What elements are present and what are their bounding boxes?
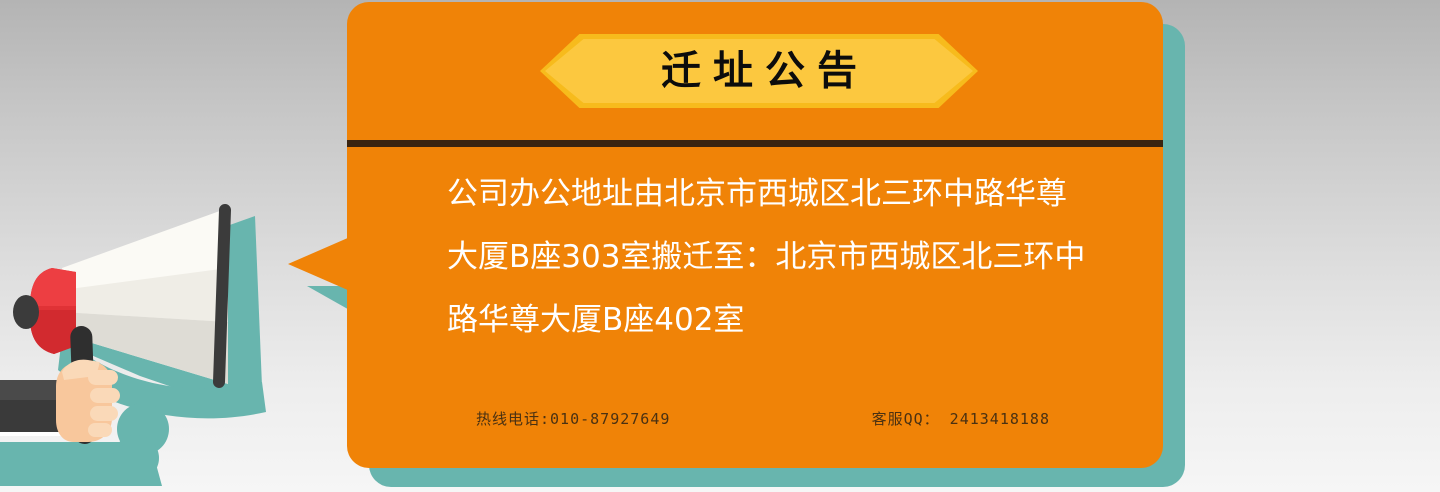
announcement-banner: 迁址公告 公司办公地址由北京市西城区北三环中路华尊大厦B座303室搬迁至：北京市…	[0, 0, 1440, 492]
megaphone-base	[13, 268, 76, 354]
page-title: 迁址公告	[540, 34, 978, 108]
card-footer: 热线电话:010-87927649 客服QQ： 2413418188	[447, 408, 1107, 429]
hotline-text: 热线电话:010-87927649	[476, 408, 670, 429]
customer-service-qq-text: 客服QQ： 2413418188	[872, 408, 1050, 429]
megaphone-illustration	[0, 186, 360, 492]
title-badge: 迁址公告	[540, 34, 978, 108]
hand	[56, 360, 120, 442]
announcement-body: 公司办公地址由北京市西城区北三环中路华尊大厦B座303室搬迁至：北京市西城区北三…	[447, 163, 1095, 352]
speech-bubble-tail-icon	[288, 237, 350, 291]
card-divider	[347, 140, 1163, 147]
